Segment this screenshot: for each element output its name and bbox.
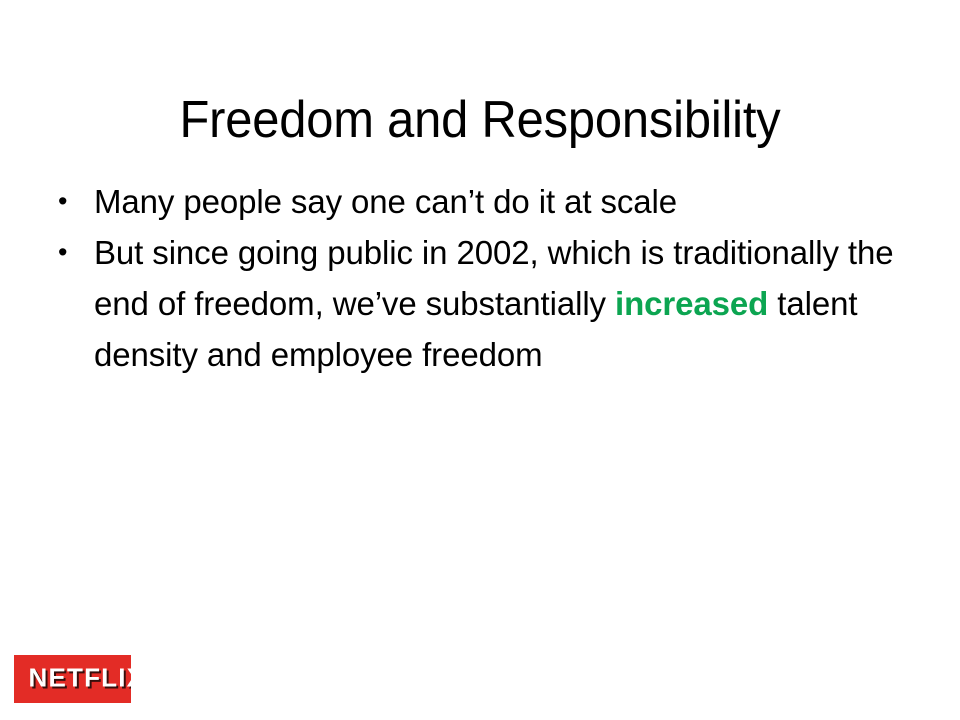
netflix-logo: NETFLIX NETFLIX: [14, 655, 131, 703]
netflix-wordmark-letters: NETFLIX: [29, 663, 132, 693]
bullet-point-icon: •: [58, 227, 80, 278]
bullet-text-1: Many people say one can’t do it at scale: [94, 176, 898, 227]
bullet-list: • Many people say one can’t do it at sca…: [48, 176, 898, 380]
bullet-text-2: But since going public in 2002, which is…: [94, 227, 898, 380]
presentation-slide: Freedom and Responsibility • Many people…: [0, 0, 960, 720]
bullet-point-icon: •: [58, 176, 80, 227]
list-item: • But since going public in 2002, which …: [48, 227, 898, 380]
bullet-segment: Many people say one can’t do it at scale: [94, 183, 677, 220]
netflix-wordmark: NETFLIX NETFLIX: [14, 655, 131, 703]
page-title: Freedom and Responsibility: [29, 91, 931, 149]
list-item: • Many people say one can’t do it at sca…: [48, 176, 898, 227]
highlighted-word: increased: [615, 285, 768, 322]
